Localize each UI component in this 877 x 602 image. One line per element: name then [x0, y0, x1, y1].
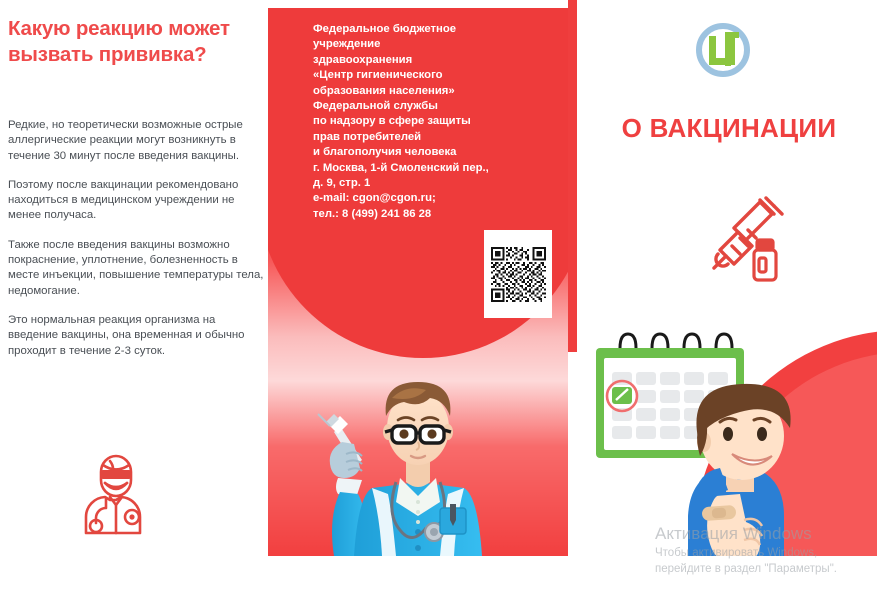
left-panel-body: Редкие, но теоретически возможные острые…	[8, 118, 264, 373]
middle-panel: Федеральное бюджетное учреждение здравоо…	[268, 8, 568, 556]
right-panel: О ВАКЦИНАЦИИ	[568, 0, 877, 602]
org-line-7: по надзору в сфере защиты	[313, 114, 553, 129]
org-line-2: учреждение	[313, 37, 553, 52]
left-paragraph-2: Поэтому после вакцинации рекомендовано н…	[8, 178, 264, 224]
qr-code-container	[484, 230, 552, 318]
left-paragraph-4: Это нормальная реакция организма на введ…	[8, 313, 264, 359]
org-line-1: Федеральное бюджетное	[313, 22, 553, 37]
left-panel: Какую реакцию может вызвать прививка? Ре…	[0, 0, 268, 602]
left-paragraph-1: Редкие, но теоретически возможные острые…	[8, 118, 264, 164]
org-line-3: здравоохранения	[313, 53, 553, 68]
org-line-11: д. 9, стр. 1	[313, 176, 553, 191]
org-line-12: e-mail: cgon@cgon.ru;	[313, 191, 553, 206]
footer: http://cgon.rospotrebnadzor.ru/ http://c…	[0, 556, 877, 602]
cgon-circle-logo	[695, 22, 751, 78]
left-paragraph-3: Также после введения вакцины возможно по…	[8, 238, 264, 299]
boy-with-bandage-and-calendar-illustration	[576, 330, 876, 570]
brochure-title: О ВАКЦИНАЦИИ	[584, 113, 874, 144]
brochure-page: Какую реакцию может вызвать прививка? Ре…	[0, 0, 877, 602]
org-line-13: тел.: 8 (499) 241 86 28	[313, 207, 553, 222]
org-line-10: г. Москва, 1-й Смоленский пер.,	[313, 161, 553, 176]
organization-info: Федеральное бюджетное учреждение здравоо…	[313, 22, 553, 222]
doctor-with-mask-icon	[72, 447, 160, 539]
right-panel-red-strip	[568, 0, 577, 352]
org-line-4: «Центр гигиенического	[313, 68, 553, 83]
org-line-6: Федеральной службы	[313, 99, 553, 114]
org-line-8: прав потребителей	[313, 130, 553, 145]
boy-figure	[688, 384, 791, 570]
left-panel-heading: Какую реакцию может вызвать прививка?	[8, 16, 258, 68]
syringe-and-vial-icon	[688, 196, 792, 286]
org-line-9: и благополучия человека	[313, 145, 553, 160]
qr-code	[491, 247, 546, 302]
org-line-5: образования населения»	[313, 84, 553, 99]
